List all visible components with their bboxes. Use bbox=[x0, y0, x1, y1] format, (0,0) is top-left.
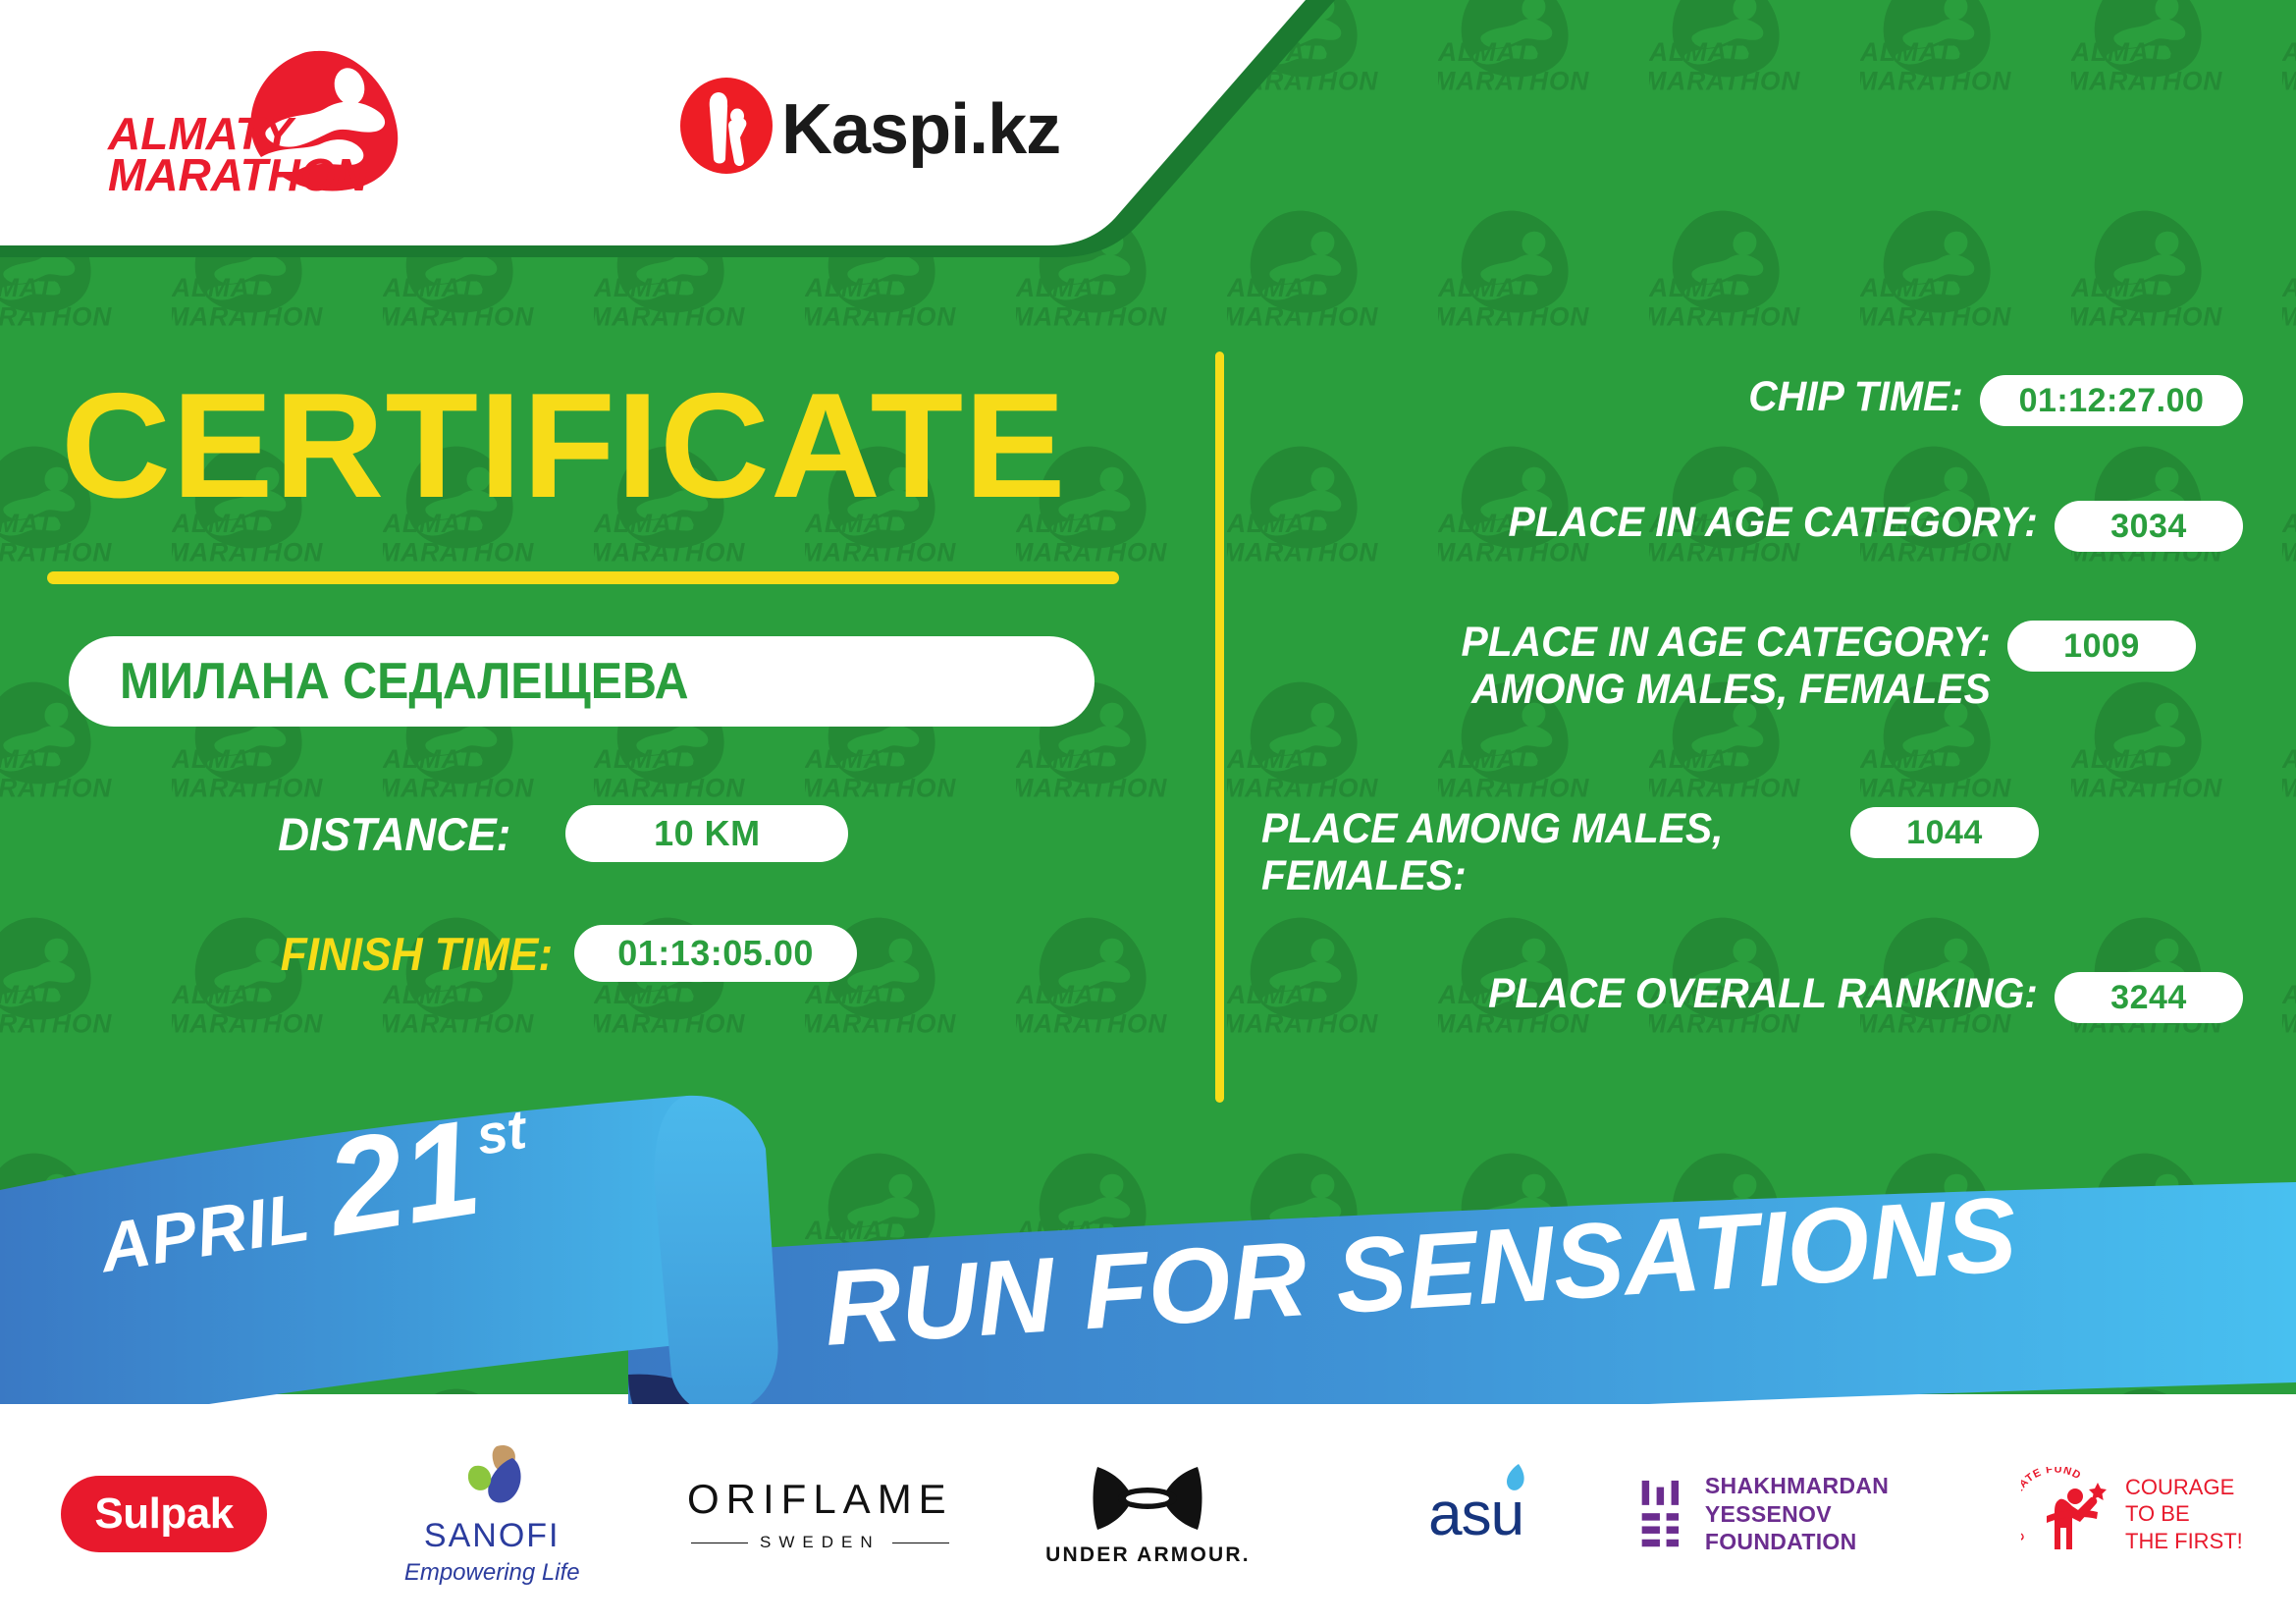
sponsor-strip: Sulpak SANOFI Empowering Life ORIFLAME S… bbox=[0, 1404, 2296, 1624]
yessenov-line-2: FOUNDATION bbox=[1705, 1528, 1968, 1556]
stat-row: PLACE AMONG MALES, FEMALES: 1044 bbox=[1261, 805, 2243, 899]
stat-value-place-age-category-gender: 1009 bbox=[2007, 621, 2196, 672]
sponsor-oriflame: ORIFLAME SWEDEN bbox=[656, 1445, 984, 1583]
sponsor-sulpak: Sulpak bbox=[0, 1445, 328, 1583]
column-divider bbox=[1215, 352, 1224, 1103]
oriflame-sub-label: SWEDEN bbox=[760, 1533, 881, 1552]
almaty-marathon-logo: ALMATY MARATHON bbox=[106, 47, 410, 194]
distance-row: DISTANCE: 10 KM bbox=[263, 803, 848, 864]
oriflame-rule-left bbox=[691, 1543, 748, 1543]
stat-value-place-age-category: 3034 bbox=[2055, 501, 2243, 552]
corporate-fund-arc-text: CORPORATE FUND bbox=[2021, 1467, 2083, 1543]
asu-droplet-icon bbox=[1501, 1462, 1530, 1495]
sponsor-yessenov-foundation: SHAKHMARDAN YESSENOV FOUNDATION bbox=[1640, 1445, 1968, 1583]
under-armour-wordmark: UNDER ARMOUR. bbox=[1045, 1543, 1251, 1567]
stat-row: PLACE OVERALL RANKING: 3244 bbox=[1261, 970, 2243, 1023]
kaspi-logo: Kaspi.kz bbox=[677, 77, 1090, 175]
certificate-canvas: ALMATY MARATHON ALMATY MARATHON bbox=[0, 0, 2296, 1624]
yessenov-line-1: SHAKHMARDAN YESSENOV bbox=[1705, 1472, 1968, 1529]
oriflame-wordmark: ORIFLAME bbox=[687, 1476, 953, 1523]
stat-row: PLACE IN AGE CATEGORY: 3034 bbox=[1261, 499, 2243, 552]
finish-time-label: FINISH TIME: bbox=[281, 927, 553, 981]
svg-text:CORPORATE FUND: CORPORATE FUND bbox=[2021, 1467, 2083, 1543]
event-month: APRIL bbox=[94, 1177, 315, 1288]
sponsor-courage-fund: CORPORATE FUND COURAGE TO BE THE FIRST! bbox=[1968, 1445, 2296, 1583]
sanofi-wordmark: SANOFI bbox=[424, 1517, 561, 1555]
under-armour-mark-icon bbox=[1090, 1461, 1205, 1538]
courage-line-2: TO BE bbox=[2125, 1500, 2243, 1528]
stat-label-place-age-category-gender: PLACE IN AGE CATEGORY: AMONG MALES, FEMA… bbox=[1299, 619, 2007, 713]
stat-label-place-overall: PLACE OVERALL RANKING: bbox=[1301, 970, 2055, 1017]
stat-label-place-age-category: PLACE IN AGE CATEGORY: bbox=[1301, 499, 2055, 546]
courage-line-1: COURAGE bbox=[2125, 1474, 2243, 1501]
stat-value-chip-time: 01:12:27.00 bbox=[1980, 375, 2243, 426]
stat-row: PLACE IN AGE CATEGORY: AMONG MALES, FEMA… bbox=[1261, 619, 2243, 713]
svg-text:Kaspi.kz: Kaspi.kz bbox=[781, 90, 1060, 169]
yessenov-mark-icon bbox=[1640, 1472, 1687, 1556]
stat-value-place-among-gender: 1044 bbox=[1850, 807, 2039, 858]
courage-line-3: THE FIRST! bbox=[2125, 1528, 2243, 1555]
sponsor-under-armour: UNDER ARMOUR. bbox=[984, 1445, 1311, 1583]
corporate-fund-mark-icon: CORPORATE FUND bbox=[2021, 1467, 2115, 1561]
sulpak-logo: Sulpak bbox=[61, 1476, 266, 1552]
oriflame-rule-right bbox=[892, 1543, 949, 1543]
sanofi-tagline: Empowering Life bbox=[404, 1559, 580, 1587]
distance-value: 10 KM bbox=[565, 805, 848, 862]
page-title: CERTIFICATE bbox=[61, 371, 1182, 520]
event-day-suffix: st bbox=[472, 1097, 530, 1167]
title-underline bbox=[47, 571, 1119, 584]
sponsor-asu: asu bbox=[1312, 1445, 1640, 1583]
participant-name-value: МИЛАНА СЕДАЛЕЩЕВА bbox=[120, 652, 689, 711]
event-day: 21 bbox=[318, 1100, 488, 1257]
sponsor-sanofi: SANOFI Empowering Life bbox=[328, 1445, 656, 1583]
participant-name-field: МИЛАНА СЕДАЛЕЩЕВА bbox=[69, 636, 1095, 727]
stat-label-place-among-gender: PLACE AMONG MALES, FEMALES: bbox=[1261, 805, 1821, 899]
stat-value-place-overall: 3244 bbox=[2055, 972, 2243, 1023]
finish-time-row: FINISH TIME: 01:13:05.00 bbox=[263, 923, 857, 984]
stat-label-chip-time: CHIP TIME: bbox=[1298, 373, 1980, 420]
finish-time-value: 01:13:05.00 bbox=[574, 925, 857, 982]
svg-text:MARATHON: MARATHON bbox=[108, 149, 369, 194]
stat-row: CHIP TIME: 01:12:27.00 bbox=[1261, 373, 2243, 426]
sanofi-mark-icon bbox=[454, 1442, 530, 1513]
distance-label: DISTANCE: bbox=[278, 807, 510, 861]
